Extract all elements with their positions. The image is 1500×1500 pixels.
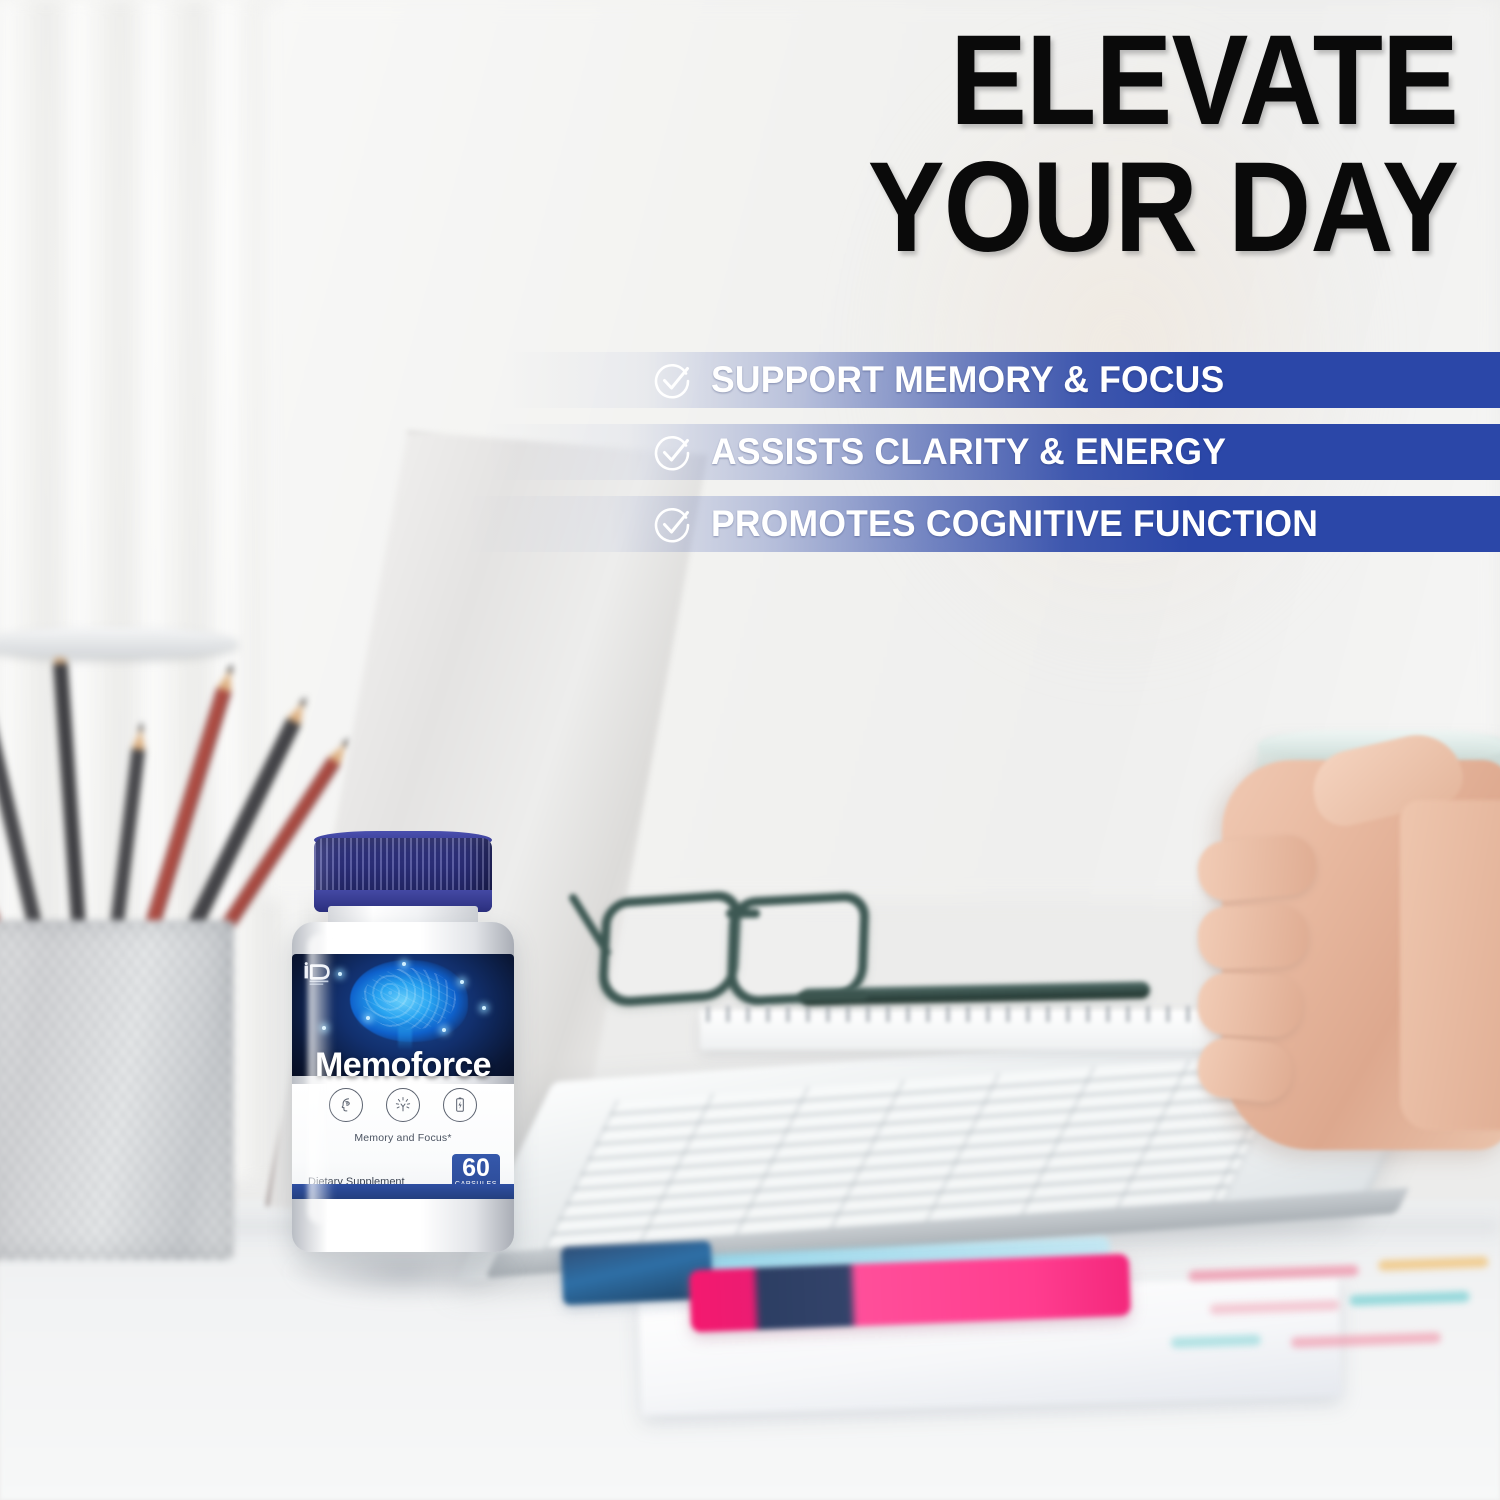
label-icon-row bbox=[292, 1088, 514, 1122]
headline: ELEVATE YOUR DAY bbox=[698, 18, 1458, 271]
highlighted-notes bbox=[1148, 1242, 1500, 1384]
bottle-label: Memoforce bbox=[292, 954, 514, 1194]
label-blue-footer bbox=[292, 1184, 514, 1199]
pencil-cup bbox=[0, 640, 260, 1260]
notebook-spiral-binding bbox=[706, 1006, 1216, 1022]
brain-folds bbox=[362, 968, 456, 1030]
product-name: Memoforce bbox=[292, 1046, 514, 1085]
product-marketing-image: ELEVATE YOUR DAY SUPPORT MEMORY & FOCUS … bbox=[0, 0, 1500, 1500]
finger bbox=[1197, 972, 1303, 1038]
battery-energy-icon bbox=[443, 1088, 477, 1122]
product-tagline: Memory and Focus* bbox=[292, 1132, 514, 1144]
product-bottle: Memoforce bbox=[278, 838, 526, 1298]
head-brain-icon bbox=[329, 1088, 363, 1122]
benefit-label-1: SUPPORT MEMORY & FOCUS bbox=[711, 359, 1224, 401]
finger bbox=[1196, 833, 1319, 903]
headline-line-1: ELEVATE bbox=[774, 18, 1458, 145]
id-monogram-logo bbox=[302, 962, 336, 988]
benefit-label-3: PROMOTES COGNITIVE FUNCTION bbox=[711, 503, 1318, 545]
bottle-cap bbox=[314, 838, 492, 912]
glasses-left-lens bbox=[597, 890, 742, 1008]
check-circle-icon bbox=[653, 360, 693, 400]
glasses-bridge bbox=[726, 909, 760, 918]
benefit-bar-2: ASSISTS CLARITY & ENERGY bbox=[485, 424, 1500, 480]
mesh-cup-body bbox=[0, 920, 234, 1260]
label-dark-section: Memoforce bbox=[292, 954, 514, 1076]
capsule-count: 60 bbox=[452, 1154, 500, 1181]
finger bbox=[1197, 904, 1309, 970]
check-circle-icon bbox=[653, 504, 693, 544]
cap-ridges bbox=[314, 838, 492, 890]
benefit-label-2: ASSISTS CLARITY & ENERGY bbox=[711, 431, 1226, 473]
idea-burst-icon bbox=[386, 1088, 420, 1122]
headline-line-2: YOUR DAY bbox=[774, 145, 1458, 272]
wrist bbox=[1400, 800, 1500, 1130]
label-white-section: Memory and Focus* Dietary Supplement 60 … bbox=[292, 1084, 514, 1194]
benefit-bar-3: PROMOTES COGNITIVE FUNCTION bbox=[465, 496, 1500, 552]
benefits-list: SUPPORT MEMORY & FOCUS ASSISTS CLARITY &… bbox=[0, 352, 1500, 568]
check-circle-icon bbox=[653, 432, 693, 472]
cup-rim bbox=[0, 628, 238, 658]
benefit-bar-1: SUPPORT MEMORY & FOCUS bbox=[505, 352, 1500, 408]
